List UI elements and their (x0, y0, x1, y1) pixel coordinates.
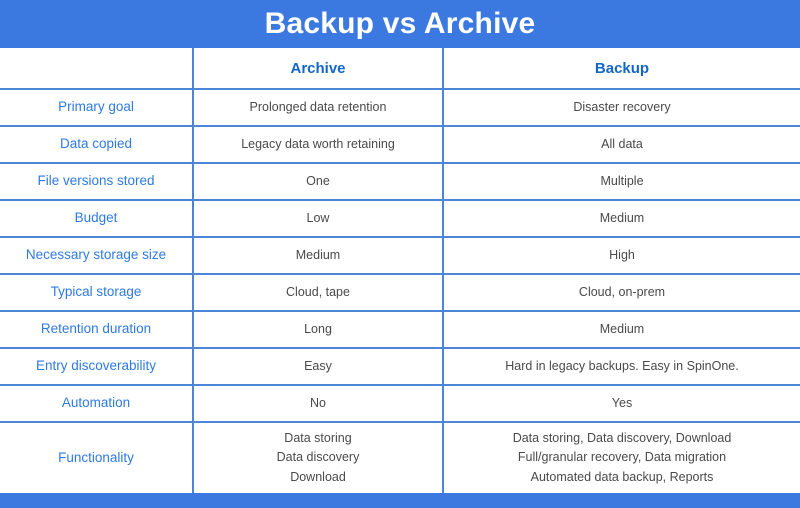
cell-backup: Medium (443, 311, 800, 348)
cell-archive: Long (193, 311, 443, 348)
cell-archive: Prolonged data retention (193, 89, 443, 126)
table-row: Entry discoverability Easy Hard in legac… (0, 348, 800, 385)
cell-archive: Legacy data worth retaining (193, 126, 443, 163)
table-row-functionality: Functionality Data storing Data discover… (0, 422, 800, 493)
bottom-banner (0, 493, 800, 508)
cell-archive: Data storing Data discovery Download (193, 422, 443, 493)
column-header-archive: Archive (193, 48, 443, 89)
row-label: Retention duration (0, 311, 193, 348)
table-row: Typical storage Cloud, tape Cloud, on-pr… (0, 274, 800, 311)
row-label: Budget (0, 200, 193, 237)
table-row: Automation No Yes (0, 385, 800, 422)
cell-line: Data storing, Data discovery, Download (450, 429, 794, 448)
cell-line: Data storing (200, 429, 436, 448)
row-label: Typical storage (0, 274, 193, 311)
column-header-blank (0, 48, 193, 89)
row-label: File versions stored (0, 163, 193, 200)
table-row: Necessary storage size Medium High (0, 237, 800, 274)
cell-line: Full/granular recovery, Data migration (450, 448, 794, 467)
cell-archive: Low (193, 200, 443, 237)
row-label: Automation (0, 385, 193, 422)
row-label: Data copied (0, 126, 193, 163)
cell-backup: High (443, 237, 800, 274)
table-row: Budget Low Medium (0, 200, 800, 237)
column-header-backup: Backup (443, 48, 800, 89)
comparison-infographic: Backup vs Archive Archive Backup Primary… (0, 0, 800, 500)
cell-backup: Cloud, on-prem (443, 274, 800, 311)
title-banner: Backup vs Archive (0, 0, 800, 48)
cell-archive: One (193, 163, 443, 200)
cell-backup: Disaster recovery (443, 89, 800, 126)
row-label: Functionality (0, 422, 193, 493)
cell-backup: Data storing, Data discovery, Download F… (443, 422, 800, 493)
table-row: File versions stored One Multiple (0, 163, 800, 200)
cell-line: Automated data backup, Reports (450, 468, 794, 487)
table-row: Data copied Legacy data worth retaining … (0, 126, 800, 163)
cell-archive: Easy (193, 348, 443, 385)
row-label: Primary goal (0, 89, 193, 126)
cell-line: Download (200, 468, 436, 487)
row-label: Entry discoverability (0, 348, 193, 385)
cell-archive: Medium (193, 237, 443, 274)
cell-backup: Hard in legacy backups. Easy in SpinOne. (443, 348, 800, 385)
cell-backup: Multiple (443, 163, 800, 200)
cell-backup: All data (443, 126, 800, 163)
row-label: Necessary storage size (0, 237, 193, 274)
cell-backup: Yes (443, 385, 800, 422)
cell-archive: No (193, 385, 443, 422)
cell-line: Data discovery (200, 448, 436, 467)
cell-backup: Medium (443, 200, 800, 237)
cell-archive: Cloud, tape (193, 274, 443, 311)
table-row: Primary goal Prolonged data retention Di… (0, 89, 800, 126)
table-row: Retention duration Long Medium (0, 311, 800, 348)
page-title: Backup vs Archive (265, 9, 536, 39)
table-header-row: Archive Backup (0, 48, 800, 89)
comparison-table: Archive Backup Primary goal Prolonged da… (0, 48, 800, 493)
